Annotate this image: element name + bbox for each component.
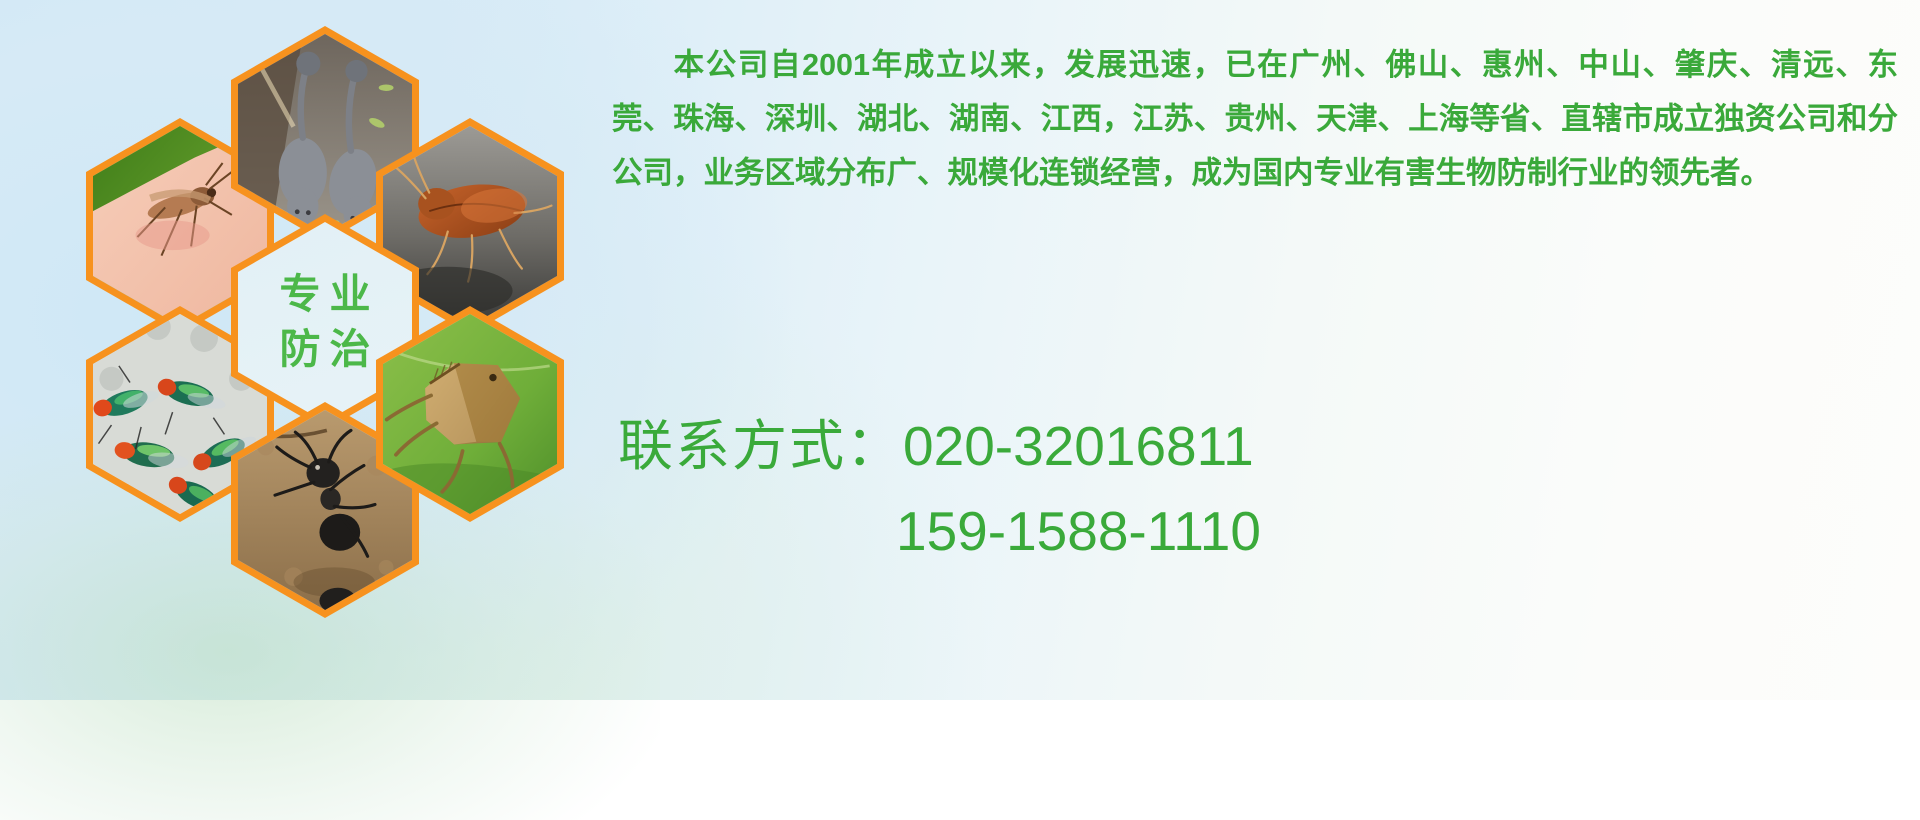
contact-label: 联系方式： bbox=[618, 415, 903, 477]
badge-line-2: 防治 bbox=[271, 329, 380, 370]
contact-block: 联系方式：020-32016811 159-1588-1110 bbox=[618, 404, 1908, 574]
promo-banner: 专业 防治 bbox=[0, 0, 1920, 700]
contact-phone-1[interactable]: 020-32016811 bbox=[903, 415, 1254, 477]
hex-frame bbox=[376, 306, 564, 522]
company-intro-paragraph: 本公司自2001年成立以来，发展迅速，已在广州、佛山、惠州、中山、肇庆、清远、东… bbox=[612, 38, 1898, 200]
contact-line-primary: 联系方式：020-32016811 bbox=[618, 404, 1908, 489]
stink-bug-photo bbox=[383, 314, 557, 514]
badge-line-1: 专业 bbox=[271, 274, 380, 315]
honeycomb-photo-cluster: 专业 防治 bbox=[86, 8, 586, 568]
intro-text: 本公司自2001年成立以来，发展迅速，已在广州、佛山、惠州、中山、肇庆、清远、东… bbox=[612, 48, 1898, 190]
hex-cell-stinkbug[interactable] bbox=[376, 306, 564, 522]
contact-line-secondary: 159-1588-1110 bbox=[618, 489, 1908, 574]
contact-phone-2[interactable]: 159-1588-1110 bbox=[896, 500, 1261, 562]
